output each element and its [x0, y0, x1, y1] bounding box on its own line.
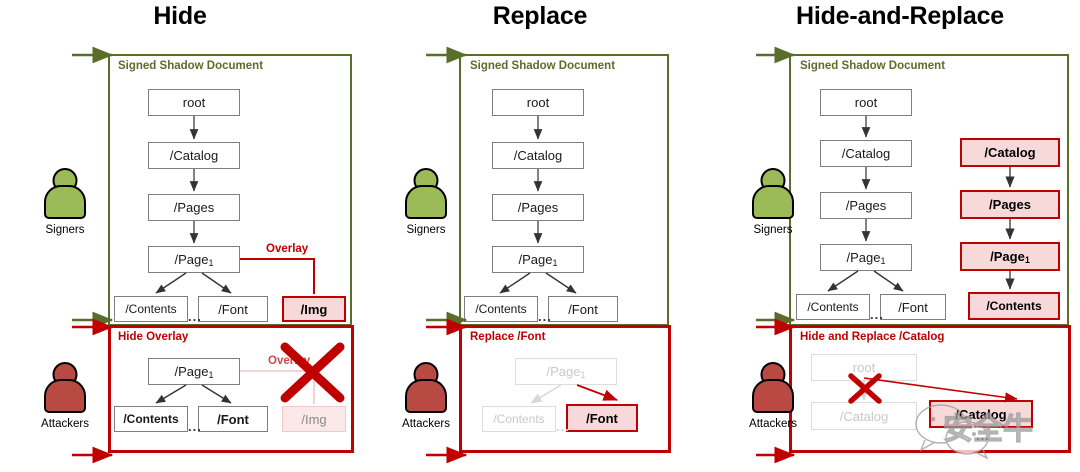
node-label: /Contents	[807, 300, 858, 314]
node-label: /Catalog	[514, 148, 562, 163]
node-contents-replace: /Contents	[464, 296, 538, 322]
node-pages-hide: /Pages	[148, 194, 240, 221]
avatar-label-signers-3: Signers	[728, 224, 818, 236]
node-label: /Font	[217, 412, 249, 427]
node-label: /Catalog	[984, 145, 1035, 160]
node-catalog-red-har: /Catalog	[960, 138, 1060, 167]
ellipsis-attack-hide: ...	[188, 419, 202, 434]
node-label: root	[855, 95, 877, 110]
node-img-attack-hide: /Img	[282, 406, 346, 432]
attack-label-replace: Replace /Font	[470, 331, 545, 343]
node-label: /Page	[847, 250, 881, 265]
avatar-body	[44, 379, 86, 413]
node-catalog-replace: /Catalog	[492, 142, 584, 169]
node-label: /Contents	[125, 302, 176, 316]
avatar-label-attackers: Attackers	[20, 418, 110, 430]
node-label: root	[527, 95, 549, 110]
node-font-attack-replace: /Font	[566, 404, 638, 432]
avatar-signers-3	[750, 168, 796, 224]
node-label: /Img	[301, 302, 328, 317]
attack-box-har	[789, 325, 1071, 453]
avatar-body	[44, 185, 86, 219]
ellipsis-signed-hide: ...	[188, 309, 202, 324]
attack-box-hide	[108, 325, 354, 453]
ellipsis-signed-har: ...	[870, 307, 884, 322]
node-label: /Contents	[123, 412, 178, 426]
node-label: /Contents	[986, 299, 1041, 313]
node-catalog-har: /Catalog	[820, 140, 912, 167]
node-subscript: 1	[580, 370, 585, 380]
ellipsis-signed-replace: ...	[538, 309, 552, 324]
node-label: /Font	[568, 302, 598, 317]
node-label: /Page	[519, 252, 553, 267]
node-label: /Img	[301, 412, 326, 427]
avatar-label-signers-2: Signers	[381, 224, 471, 236]
node-label: /Font	[898, 300, 928, 315]
node-subscript: 1	[208, 258, 213, 268]
avatar-label-signers: Signers	[20, 224, 110, 236]
node-font-attack-hide: /Font	[198, 406, 268, 432]
node-label: /Page	[990, 249, 1025, 264]
panel-title-hide: Hide	[0, 2, 360, 31]
node-subscript: 1	[1025, 255, 1030, 265]
node-label: /Font	[586, 411, 618, 426]
node-label: /Pages	[989, 197, 1031, 212]
node-subscript: 1	[208, 370, 213, 380]
avatar-body	[405, 379, 447, 413]
node-page1-attack-hide: /Page1	[148, 358, 240, 385]
avatar-attackers	[42, 362, 88, 418]
overlay-label-attack-hide: Overlay	[268, 355, 310, 367]
node-page1-attack-replace: /Page1	[515, 358, 617, 385]
signed-shadow-document-label-har: Signed Shadow Document	[800, 60, 945, 72]
node-catalog-hide: /Catalog	[148, 142, 240, 169]
node-label: /Page	[175, 252, 209, 267]
node-label: /Catalog	[840, 409, 888, 424]
node-contents-attack-hide: /Contents	[114, 406, 188, 432]
node-label: /Catalog	[842, 146, 890, 161]
avatar-signers	[42, 168, 88, 224]
node-label: /Catalog	[170, 148, 218, 163]
node-font-replace: /Font	[548, 296, 618, 322]
signed-shadow-document-label-replace: Signed Shadow Document	[470, 60, 615, 72]
attack-label-har: Hide and Replace /Catalog	[800, 331, 944, 343]
avatar-body	[405, 185, 447, 219]
avatar-attackers-3	[750, 362, 796, 418]
node-root-hide: root	[148, 89, 240, 116]
node-label: /Pages	[174, 200, 214, 215]
node-label: /Page	[175, 364, 209, 379]
node-label: /Pages	[518, 200, 558, 215]
node-subscript: 1	[552, 258, 557, 268]
node-label: /Contents	[475, 302, 526, 316]
node-pages-red-har: /Pages	[960, 190, 1060, 219]
node-page1-replace: /Page1	[492, 246, 584, 273]
node-subscript: 1	[880, 256, 885, 266]
signed-shadow-document-label-hide: Signed Shadow Document	[118, 60, 263, 72]
node-pages-har: /Pages	[820, 192, 912, 219]
node-font-har: /Font	[880, 294, 946, 320]
node-contents-har: /Contents	[796, 294, 870, 320]
avatar-body	[752, 185, 794, 219]
node-page1-har: /Page1	[820, 244, 912, 271]
avatar-signers-2	[403, 168, 449, 224]
node-root-replace: root	[492, 89, 584, 116]
node-label: /Catalog	[955, 407, 1006, 422]
avatar-body	[752, 379, 794, 413]
node-img-hide: /Img	[282, 296, 346, 322]
panel-title-replace: Replace	[360, 2, 720, 31]
avatar-label-attackers-2: Attackers	[381, 418, 471, 430]
node-root-har: root	[820, 89, 912, 116]
attack-label-hide: Hide Overlay	[118, 331, 188, 343]
node-page1-red-har: /Page1	[960, 242, 1060, 271]
node-catalog-attack-har: /Catalog	[811, 402, 917, 430]
node-font-hide: /Font	[198, 296, 268, 322]
overlay-label-hide: Overlay	[266, 243, 308, 255]
node-label: /Font	[218, 302, 248, 317]
node-root-attack-har: root	[811, 354, 917, 381]
panel-title-hide-and-replace: Hide-and-Replace	[720, 2, 1080, 31]
node-label: root	[853, 360, 875, 375]
ellipsis-attack-replace: ...	[556, 419, 570, 434]
node-catalog-red-attack-har: /Catalog	[929, 400, 1033, 428]
node-contents-hide: /Contents	[114, 296, 188, 322]
avatar-label-attackers-3: Attackers	[728, 418, 818, 430]
node-label: /Pages	[846, 198, 886, 213]
node-pages-replace: /Pages	[492, 194, 584, 221]
node-label: root	[183, 95, 205, 110]
ellipsis-attack-har: ...	[976, 428, 990, 443]
avatar-attackers-2	[403, 362, 449, 418]
node-contents-red-har: /Contents	[968, 292, 1060, 320]
node-contents-attack-replace: /Contents	[482, 406, 556, 432]
node-page1-hide: /Page1	[148, 246, 240, 273]
node-label: /Page	[547, 364, 581, 379]
node-label: /Contents	[493, 412, 544, 426]
